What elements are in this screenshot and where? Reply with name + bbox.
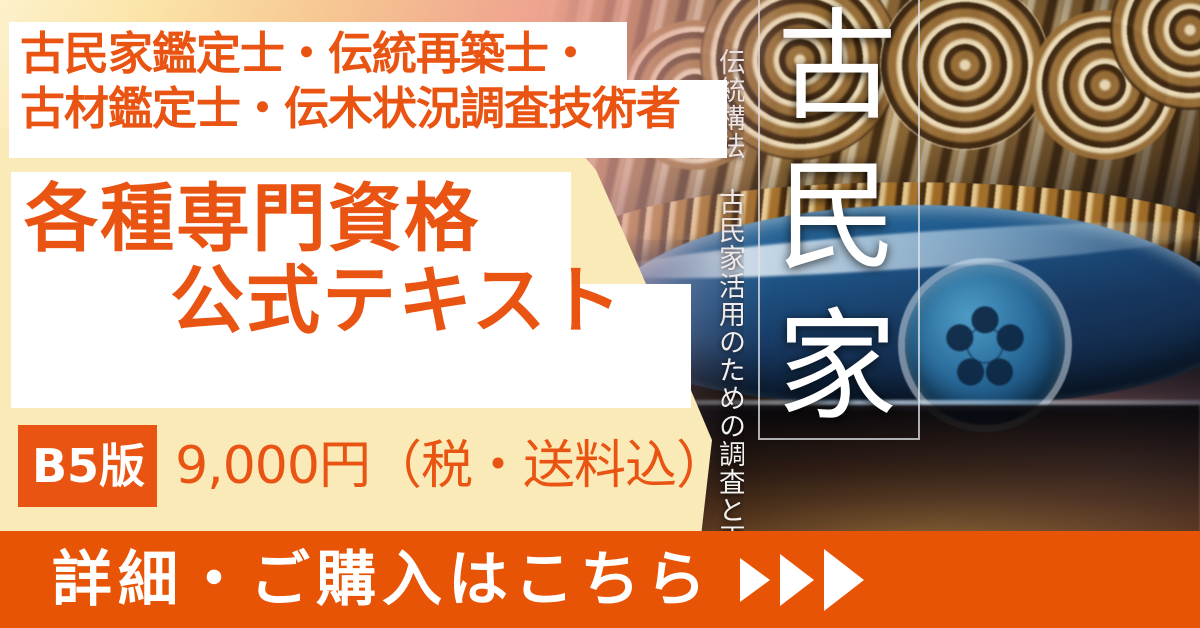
cta-label: 詳細・ご購入はこちら <box>52 550 712 610</box>
headline-text: 各種専門資格 公式テキスト <box>0 180 700 343</box>
price-amount: 9,000円（税・送料込） <box>175 440 727 492</box>
triangle-right-icon <box>740 558 770 602</box>
cta-bar[interactable]: 詳細・ご購入はこちら <box>0 531 1200 628</box>
price-row: B5版 9,000円（税・送料込） <box>18 424 727 508</box>
format-badge: B5版 <box>18 425 157 507</box>
triangle-right-icon <box>824 549 864 611</box>
qualifications-line-1: 古民家鑑定士・伝統再築士・ <box>20 27 720 82</box>
cta-arrow-group <box>740 549 864 611</box>
qualifications-text: 古民家鑑定士・伝統再築士・ 古材鑑定士・伝木状況調査技術者 <box>20 27 720 137</box>
headline-line-1: 各種専門資格 <box>24 180 700 260</box>
headline-line-2: 公式テキスト <box>170 260 700 343</box>
promo-banner: 伝統構法 古民家活用のための調査と再生の 古 民 家 古民家鑑定士・伝統再築士・… <box>0 0 1200 628</box>
qualifications-line-2: 古材鑑定士・伝木状況調査技術者 <box>20 82 720 137</box>
triangle-right-icon <box>780 554 814 606</box>
